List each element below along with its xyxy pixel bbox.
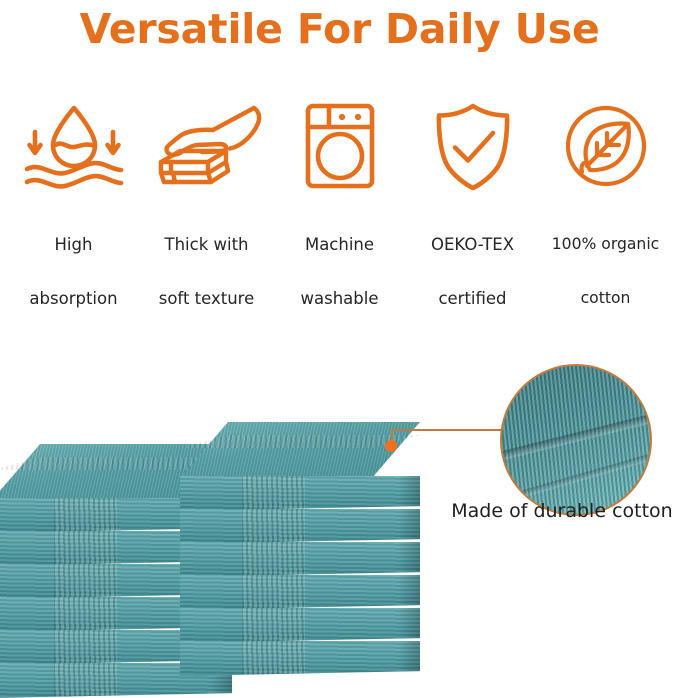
feature-label-line-2: washable bbox=[301, 285, 379, 312]
towel-ripple bbox=[54, 630, 116, 664]
feature-label-oeko-tex: OEKO-TEX certified bbox=[431, 204, 514, 339]
page-title: Versatile For Daily Use bbox=[0, 2, 679, 56]
shield-check-icon bbox=[427, 100, 519, 192]
feature-label-line-2: absorption bbox=[29, 285, 117, 312]
feature-label-organic-cotton: 100% organic cotton bbox=[552, 204, 659, 339]
towel-ripple bbox=[54, 663, 116, 697]
towel-ripple bbox=[242, 641, 304, 675]
feature-label-line-2: soft texture bbox=[159, 285, 255, 312]
washing-machine-icon bbox=[297, 100, 383, 192]
towel-edge-shadow bbox=[398, 542, 420, 576]
feature-list: High absorption Thick with soft texture bbox=[0, 100, 679, 339]
feature-label-line-1: 100% organic bbox=[552, 231, 659, 258]
towel-ripple bbox=[242, 476, 304, 510]
feature-label-line-1: Thick with bbox=[159, 231, 255, 258]
feature-label-soft-texture: Thick with soft texture bbox=[159, 204, 255, 339]
callout-connector-horizontal bbox=[391, 429, 509, 431]
feature-label-line-1: OEKO-TEX bbox=[431, 231, 514, 258]
towel-ripple bbox=[54, 498, 116, 532]
towel-ripple bbox=[242, 575, 304, 609]
towel-edge-shadow bbox=[398, 476, 420, 510]
towel-top-face bbox=[180, 422, 420, 478]
fabric-seam bbox=[500, 408, 652, 463]
feature-label-line-2: certified bbox=[431, 285, 514, 312]
towel-ripple bbox=[54, 564, 116, 598]
towel-layer bbox=[180, 542, 420, 577]
right-towel-stack bbox=[180, 422, 420, 676]
towel-layer bbox=[180, 608, 420, 643]
towel-layer bbox=[180, 509, 420, 544]
feature-item-high-absorption: High absorption bbox=[8, 100, 139, 339]
feature-label-high-absorption: High absorption bbox=[29, 204, 117, 339]
towel-ripple bbox=[242, 608, 304, 642]
hand-touching-folded-towels-icon bbox=[150, 100, 264, 192]
feature-item-oeko-tex: OEKO-TEX certified bbox=[407, 100, 538, 339]
product-caption: Made of durable cotton bbox=[445, 500, 679, 522]
feature-item-machine-washable: Machine washable bbox=[274, 100, 405, 339]
towel-layer bbox=[180, 476, 420, 511]
feature-item-soft-texture: Thick with soft texture bbox=[141, 100, 272, 339]
fabric-detail-magnifier bbox=[500, 364, 652, 516]
towel-top-surface bbox=[180, 422, 420, 478]
feature-label-line-2: cotton bbox=[552, 285, 659, 312]
towel-edge-shadow bbox=[398, 509, 420, 543]
towel-layer bbox=[180, 575, 420, 610]
feature-label-line-1: High bbox=[29, 231, 117, 258]
towel-edge-shadow bbox=[398, 641, 420, 675]
towel-edge-shadow bbox=[398, 575, 420, 609]
towel-layer bbox=[180, 641, 420, 676]
feature-label-line-1: Machine bbox=[301, 231, 379, 258]
towel-ripple bbox=[54, 531, 116, 565]
feature-label-machine-washable: Machine washable bbox=[301, 204, 379, 339]
towel-ripple bbox=[242, 542, 304, 576]
towel-edge-shadow bbox=[398, 608, 420, 642]
towel-ripple bbox=[242, 509, 304, 543]
towel-ripple bbox=[54, 597, 116, 631]
leaf-in-circle-icon bbox=[560, 100, 652, 192]
water-drop-absorption-icon bbox=[20, 100, 128, 192]
callout-marker-dot bbox=[385, 440, 397, 452]
feature-item-organic-cotton: 100% organic cotton bbox=[540, 100, 671, 339]
